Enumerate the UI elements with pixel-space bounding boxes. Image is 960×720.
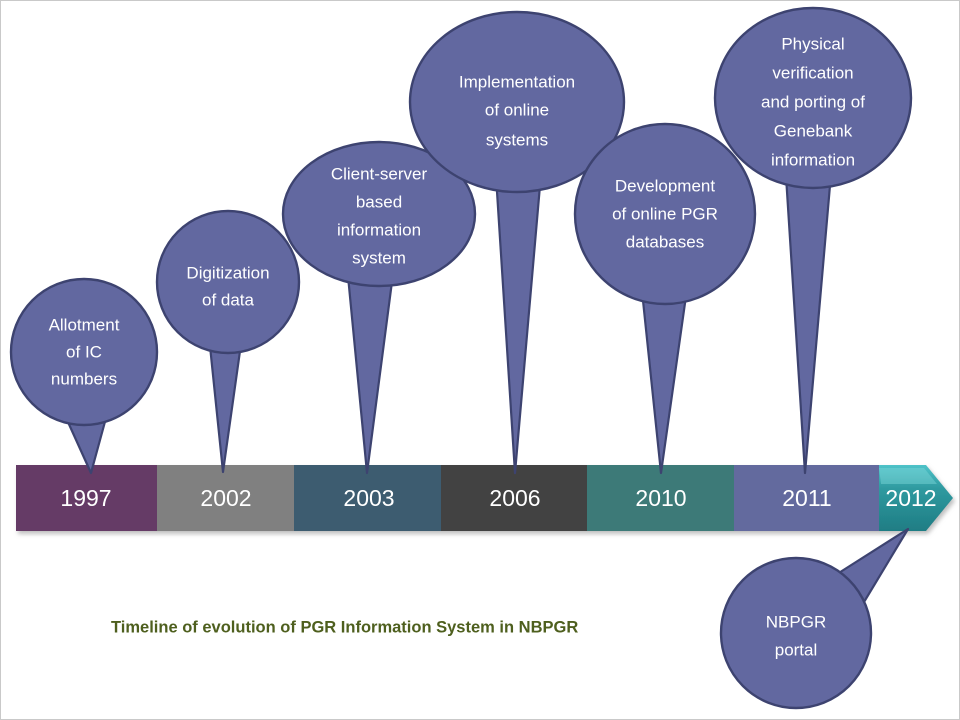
year-label-2012: 2012: [885, 485, 936, 511]
year-label-2003: 2003: [343, 485, 394, 511]
bubble-2006-line-1: Implementation: [459, 72, 575, 91]
bubble-2003-line-1: Client-server: [331, 164, 428, 183]
bubble-2011-line-1: Physical: [781, 34, 844, 53]
diagram-caption: Timeline of evolution of PGR Information…: [111, 618, 578, 636]
bubble-2002-line-2: of data: [202, 290, 255, 309]
bubble-tail-2002: [210, 344, 241, 472]
bubble-2003-line-4: system: [352, 248, 406, 267]
bubble-2012-line-1: NBPGR: [766, 612, 826, 631]
bubble-2010-line-3: databases: [626, 232, 704, 251]
timeline-diagram-canvas: 1997 2002 2003 2006 2010 2011 2012 Allot…: [0, 0, 960, 720]
bubble-2010-line-2: of online PGR: [612, 204, 718, 223]
bubble-2003-line-3: information: [337, 220, 421, 239]
bubble-tail-2010: [642, 289, 687, 473]
milestone-bubble-2012[interactable]: NBPGR portal: [721, 529, 908, 708]
bubble-2002-line-1: Digitization: [186, 263, 269, 282]
bubble-tail-2006: [496, 174, 541, 473]
bubble-2011-line-3: and porting of: [761, 92, 865, 111]
year-label-2006: 2006: [489, 485, 540, 511]
bubble-2011-line-4: Genebank: [774, 121, 853, 140]
year-label-2002: 2002: [200, 485, 251, 511]
bubble-1997-line-1: Allotment: [49, 315, 120, 334]
bubble-1997-line-3: numbers: [51, 369, 117, 388]
bubble-2011-line-2: verification: [772, 63, 853, 82]
milestone-bubble-2003[interactable]: Client-server based information system: [283, 142, 475, 473]
bubble-1997-line-2: of IC: [66, 342, 102, 361]
bubble-2012-line-2: portal: [775, 640, 818, 659]
year-label-2010: 2010: [635, 485, 686, 511]
bubble-2006-line-3: systems: [486, 130, 548, 149]
timeline-diagram: 1997 2002 2003 2006 2010 2011 2012 Allot…: [1, 1, 960, 720]
bubble-2011-line-5: information: [771, 150, 855, 169]
year-label-2011: 2011: [782, 485, 831, 511]
bubble-tail-2011: [786, 174, 831, 473]
milestone-bubble-2002[interactable]: Digitization of data: [157, 211, 299, 472]
bubble-circle-2012: [721, 558, 871, 708]
bubble-tail-2003: [348, 274, 393, 473]
bubble-2010-line-1: Development: [615, 176, 715, 195]
bubble-2003-line-2: based: [356, 192, 402, 211]
bubble-2006-line-2: of online: [485, 100, 549, 119]
milestone-bubble-2010[interactable]: Development of online PGR databases: [575, 124, 755, 473]
year-label-1997: 1997: [60, 485, 111, 511]
milestone-bubble-1997[interactable]: Allotment of IC numbers: [11, 279, 157, 473]
